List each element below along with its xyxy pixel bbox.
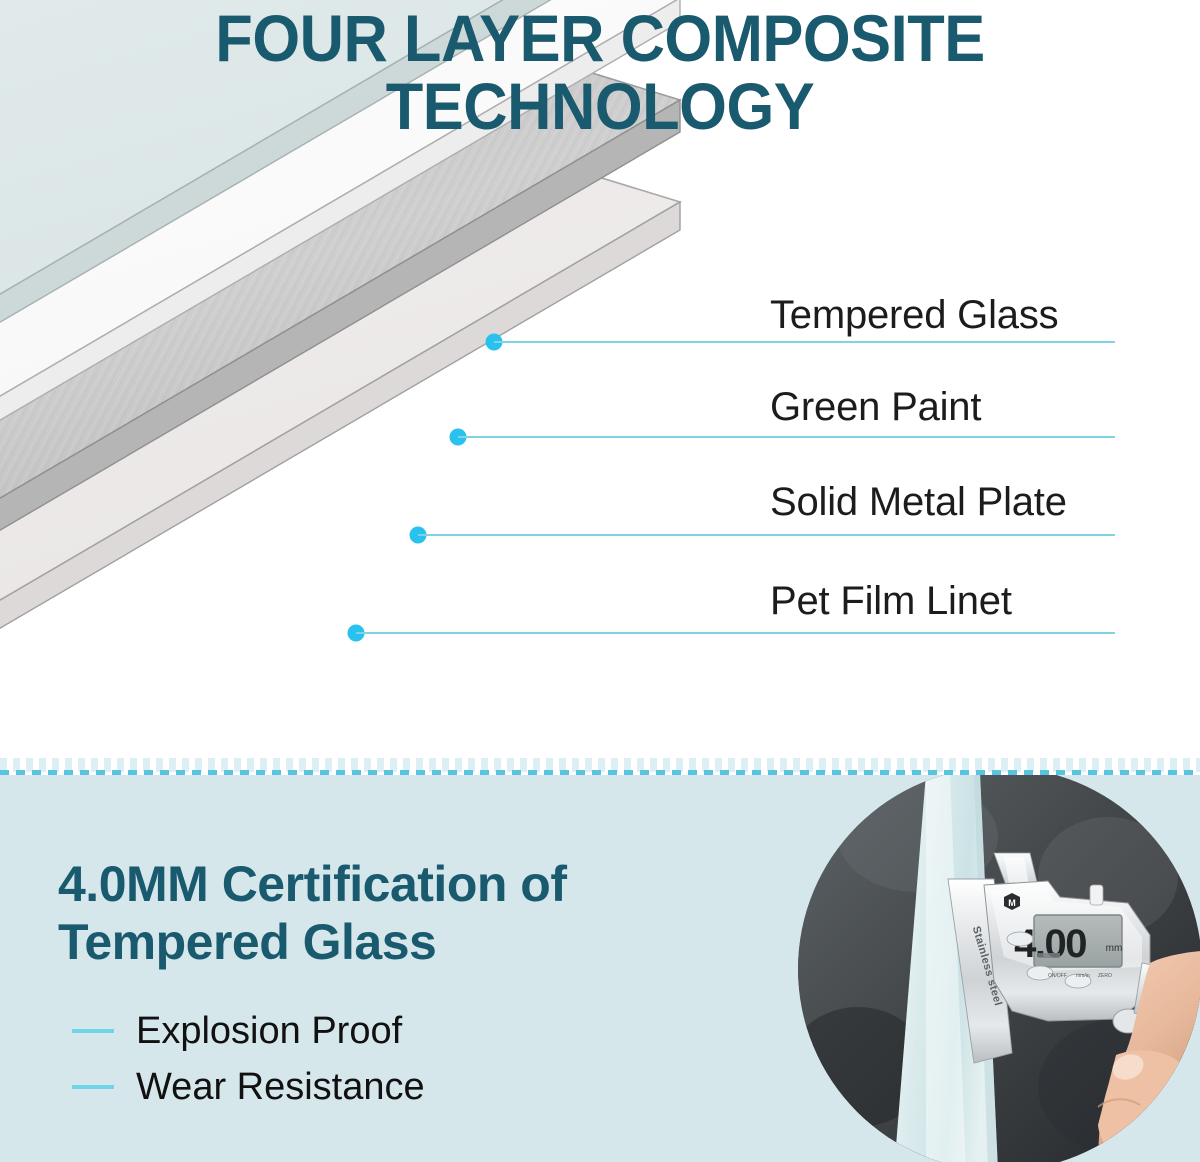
layer-diagram-section: FOUR LAYER COMPOSITE TECHNOLOGY xyxy=(0,0,1200,772)
feature-item-explosion-proof: Explosion Proof xyxy=(72,1003,425,1059)
svg-text:M: M xyxy=(1008,898,1016,908)
infographic-page: FOUR LAYER COMPOSITE TECHNOLOGY xyxy=(0,0,1200,1162)
exploded-layer-stack xyxy=(0,110,740,772)
section-divider-dashed xyxy=(0,770,1200,775)
svg-text:ZERO: ZERO xyxy=(1098,973,1112,979)
callout-label-solid-metal-plate: Solid Metal Plate xyxy=(770,481,1067,523)
dash-bullet-icon xyxy=(72,1029,114,1033)
caliper-reading-unit: mm xyxy=(1106,943,1123,954)
feature-list: Explosion Proof Wear Resistance xyxy=(72,1003,425,1115)
feature-label: Wear Resistance xyxy=(136,1067,425,1107)
callout-label-tempered-glass: Tempered Glass xyxy=(770,294,1058,336)
callout-label-green-paint: Green Paint xyxy=(770,386,981,428)
page-title: FOUR LAYER COMPOSITE TECHNOLOGY xyxy=(42,4,1158,140)
dash-bullet-icon xyxy=(72,1085,114,1089)
callout-label-pet-film-linet: Pet Film Linet xyxy=(770,580,1012,622)
certification-heading: 4.0MM Certification of Tempered Glass xyxy=(58,855,758,971)
caliper-photo-circle: Stainless steel M 4.00 mm xyxy=(798,775,1200,1162)
feature-label: Explosion Proof xyxy=(136,1011,402,1051)
svg-text:mm/in: mm/in xyxy=(1076,973,1090,979)
feature-item-wear-resistance: Wear Resistance xyxy=(72,1059,425,1115)
svg-text:ON/OFF: ON/OFF xyxy=(1048,973,1067,979)
certification-section: 4.0MM Certification of Tempered Glass Ex… xyxy=(0,775,1200,1162)
